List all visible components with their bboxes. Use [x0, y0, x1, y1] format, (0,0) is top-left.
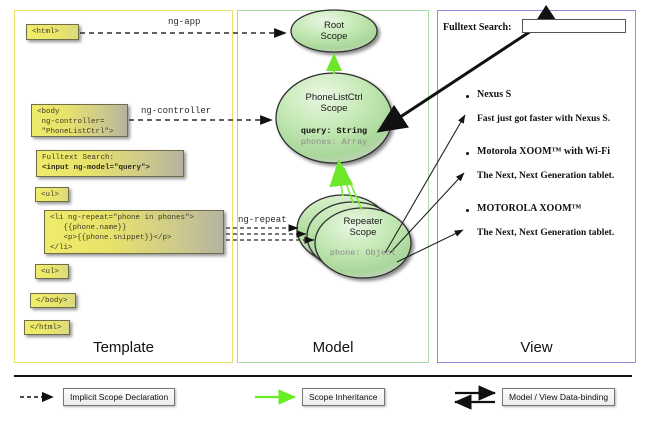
column-model: Model — [237, 10, 429, 363]
view-phone-snippet: The Next, Next Generation tablet. — [477, 228, 614, 238]
legend-implicit-scope-declaration: Implicit Scope Declaration — [63, 388, 175, 406]
view-phone-name: Nexus S — [477, 89, 511, 100]
code-box-fulltext-search: Fulltext Search: <input ng-model="query"… — [36, 150, 184, 177]
column-view: View — [437, 10, 636, 363]
root-scope-title-line2: Scope — [321, 31, 348, 42]
legend-divider — [14, 375, 632, 377]
phonelistctrl-scope-title-line2: Scope — [321, 103, 348, 114]
repeater-scope-title-line1: Repeater — [343, 216, 382, 227]
column-label-view: View — [438, 339, 635, 356]
view-phone-snippet: The Next, Next Generation tablet. — [477, 171, 614, 181]
phonelistctrl-scope-title-line1: PhoneListCtrl — [305, 92, 362, 103]
view-list-bullet — [466, 152, 469, 155]
fulltext-search-line1: Fulltext Search: — [42, 154, 114, 162]
root-scope-title-line1: Root — [324, 20, 344, 31]
view-phone-name: Motorola XOOM™ with Wi-Fi — [477, 146, 610, 157]
phonelistctrl-scope-prop-phones: phones: Array — [301, 137, 367, 147]
view-search-label: Fulltext Search: — [443, 22, 511, 33]
phonelistctrl-scope-properties: query: String phones: Array — [279, 126, 389, 148]
code-box-html-close: </html> — [24, 320, 70, 335]
root-scope-title: Root Scope — [294, 20, 374, 43]
code-box-html-open: <html> — [26, 24, 79, 40]
angularjs-scope-diagram: Template Model View <html> <body ng-cont… — [0, 0, 645, 425]
fulltext-search-line2: <input ng-model="query"> — [42, 164, 150, 172]
code-box-li-ng-repeat: <li ng-repeat="phone in phones"> {{phone… — [44, 210, 224, 254]
code-box-body-controller: <body ng-controller= "PhoneListCtrl"> — [31, 104, 128, 137]
edge-label-ng-controller: ng-controller — [141, 106, 211, 116]
code-box-body-close: </body> — [30, 293, 76, 308]
view-phone-snippet: Fast just got faster with Nexus S. — [477, 114, 610, 124]
column-label-template: Template — [15, 339, 232, 356]
legend-model-view-databinding: Model / View Data-binding — [502, 388, 615, 406]
repeater-scope-properties: phone: Object — [313, 248, 413, 259]
edge-label-ng-repeat: ng-repeat — [238, 215, 287, 225]
edge-label-ng-app: ng-app — [168, 17, 200, 27]
view-list-bullet — [466, 95, 469, 98]
phonelistctrl-scope-title: PhoneListCtrl Scope — [279, 92, 389, 115]
repeater-scope-title: Repeater Scope — [313, 216, 413, 239]
repeater-scope-prop-phone: phone: Object — [330, 248, 396, 258]
repeater-scope-title-line2: Scope — [350, 227, 377, 238]
code-box-ul-open: <ul> — [35, 187, 69, 202]
code-box-ul-close: <ul> — [35, 264, 69, 279]
legend-scope-inheritance: Scope Inheritance — [302, 388, 385, 406]
fulltext-search-input[interactable] — [522, 19, 626, 33]
view-list-bullet — [466, 209, 469, 212]
column-label-model: Model — [238, 339, 428, 356]
view-phone-name: MOTOROLA XOOM™ — [477, 203, 582, 214]
phonelistctrl-scope-prop-query: query: String — [301, 126, 367, 136]
